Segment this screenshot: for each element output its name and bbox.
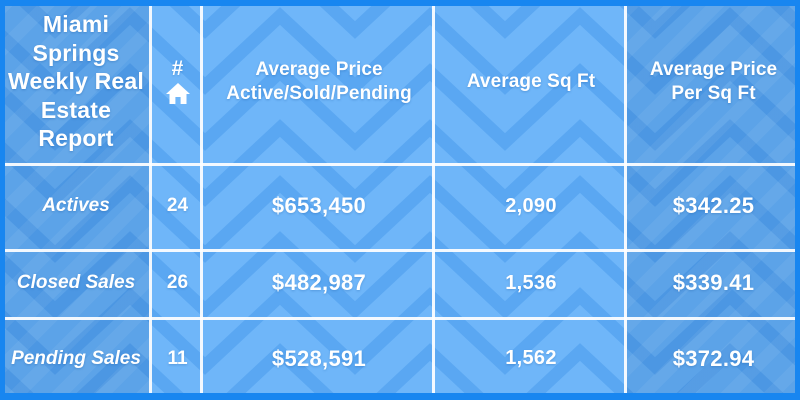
actives-average-sq-ft: 2,090: [505, 194, 557, 219]
pending-sales-average-sq-ft: 1,562: [505, 346, 557, 371]
table-row: Closed Sales: [0, 249, 152, 317]
avg-price-header-line1: Average Price: [255, 59, 382, 80]
closed-sales-count: 26: [167, 271, 188, 295]
avg-price-header-cell: Average Price Active/Sold/Pending: [203, 0, 435, 163]
table-row: $482,987: [203, 249, 435, 317]
row-label-pending-sales: Pending Sales: [11, 347, 141, 371]
actives-average-price-per-sq-ft: $342.25: [673, 192, 755, 219]
row-label-closed-sales: Closed Sales: [17, 271, 135, 295]
avg-price-header-label: Average Price Active/Sold/Pending: [226, 58, 412, 105]
actives-average-price: $653,450: [272, 192, 366, 219]
count-header-cell: #: [152, 0, 203, 163]
table-row: 1,536: [435, 249, 627, 317]
avg-price-header-line2: Active/Sold/Pending: [226, 83, 412, 104]
hash-symbol: #: [172, 58, 184, 79]
actives-count: 24: [167, 194, 188, 218]
table-row: $339.41: [627, 249, 800, 317]
table-row: 24: [152, 163, 203, 249]
pending-sales-average-price: $528,591: [272, 345, 366, 372]
avg-sqft-header-label: Average Sq Ft: [467, 70, 595, 94]
table-row: $372.94: [627, 317, 800, 400]
page-title: Miami Springs Weekly Real Estate Report: [6, 10, 146, 153]
closed-sales-average-price-per-sq-ft: $339.41: [673, 269, 755, 296]
avg-price-per-sqft-header-cell: Average Price Per Sq Ft: [627, 0, 800, 163]
pending-sales-average-price-per-sq-ft: $372.94: [673, 345, 755, 372]
table-row: 2,090: [435, 163, 627, 249]
report-table: Miami Springs Weekly Real Estate Report …: [0, 0, 800, 400]
closed-sales-average-price: $482,987: [272, 269, 366, 296]
avg-price-per-sqft-header-line1: Average Price: [650, 59, 777, 80]
table-row: $528,591: [203, 317, 435, 400]
avg-price-per-sqft-header-label: Average Price Per Sq Ft: [650, 58, 777, 105]
table-row: $342.25: [627, 163, 800, 249]
table-row: 26: [152, 249, 203, 317]
real-estate-report-infographic: Miami Springs Weekly Real Estate Report …: [0, 0, 800, 400]
house-icon: [165, 82, 191, 105]
row-label-actives: Actives: [42, 194, 110, 218]
avg-sqft-header-cell: Average Sq Ft: [435, 0, 627, 163]
avg-price-per-sqft-header-line2: Per Sq Ft: [671, 83, 755, 104]
table-row: Pending Sales: [0, 317, 152, 400]
closed-sales-average-sq-ft: 1,536: [505, 271, 557, 296]
report-title-cell: Miami Springs Weekly Real Estate Report: [0, 0, 152, 163]
pending-sales-count: 11: [167, 347, 187, 371]
table-row: Actives: [0, 163, 152, 249]
table-row: 11: [152, 317, 203, 400]
table-row: 1,562: [435, 317, 627, 400]
table-row: $653,450: [203, 163, 435, 249]
